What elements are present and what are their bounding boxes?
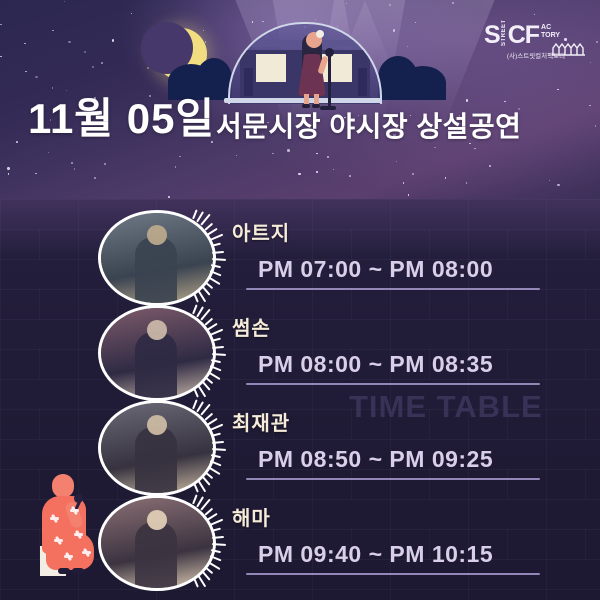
- star: [590, 62, 592, 64]
- star: [412, 173, 414, 175]
- star: [466, 99, 469, 102]
- performer-head: [147, 225, 167, 245]
- star: [94, 177, 96, 179]
- star: [84, 51, 87, 54]
- star: [101, 62, 103, 64]
- dress-flower-icon-6: [82, 548, 91, 557]
- seated-singer-head: [52, 474, 74, 498]
- star: [35, 173, 37, 175]
- stage-speaker-left: [244, 68, 253, 96]
- star: [147, 67, 149, 69]
- photo-tick: [204, 317, 213, 325]
- star: [595, 125, 597, 127]
- star: [168, 196, 170, 198]
- seated-singer-illustration: [28, 470, 106, 580]
- row-divider: [246, 383, 540, 385]
- photo-tick: [212, 250, 224, 253]
- logo-letters-cf: CF: [508, 23, 539, 48]
- performer-head: [147, 415, 167, 435]
- performer-silhouette: [135, 427, 177, 493]
- logo-word-street: STREET: [501, 24, 507, 46]
- logo-factory-skyline-icon: [552, 42, 586, 56]
- star: [16, 141, 18, 143]
- singer-shoe-left: [302, 104, 310, 108]
- photo-tick: [211, 528, 221, 532]
- photo-tick: [212, 448, 226, 451]
- star: [316, 171, 318, 173]
- photo-tick: [211, 454, 221, 458]
- star: [333, 169, 335, 171]
- star: [203, 30, 205, 32]
- photo-tick: [211, 243, 221, 247]
- photo-tick: [209, 365, 221, 371]
- stage-speaker-right: [358, 68, 367, 96]
- photo-tick: [212, 535, 224, 538]
- performer-name: 해마: [232, 509, 271, 529]
- star: [445, 177, 447, 179]
- star: [489, 165, 492, 168]
- singer-shoe-right: [312, 104, 320, 108]
- photo-tick: [211, 264, 221, 268]
- star: [35, 76, 38, 79]
- poster-header: S STREET CF AC TORY (사)스트릿컬처팩토리 11월 05일 …: [0, 0, 600, 199]
- star: [504, 101, 506, 103]
- photo-tick: [209, 270, 221, 276]
- performer-head: [147, 320, 167, 340]
- star: [298, 173, 301, 176]
- bush-right2: [400, 66, 446, 100]
- star: [349, 175, 351, 177]
- microphone-base: [320, 106, 336, 110]
- star: [68, 41, 71, 44]
- star: [466, 182, 468, 184]
- star: [396, 161, 398, 163]
- star: [557, 89, 559, 91]
- star: [25, 71, 27, 73]
- seated-microphone-icon: [74, 494, 83, 503]
- star: [272, 153, 274, 155]
- star: [589, 105, 591, 107]
- star: [48, 152, 50, 154]
- star: [327, 156, 329, 158]
- performer-name: 아트지: [232, 224, 290, 244]
- timetable-row[interactable]: 아트지PM 07:00 ~ PM 08:00: [0, 208, 600, 303]
- photo-tick: [211, 549, 221, 553]
- stage-screen-left: [256, 54, 286, 82]
- star: [52, 87, 54, 89]
- photo-tick: [207, 228, 218, 236]
- star: [534, 14, 536, 16]
- star: [92, 66, 95, 69]
- star: [104, 163, 106, 165]
- performer-silhouette: [135, 237, 177, 303]
- star: [74, 168, 76, 170]
- performer-name: 썸손: [232, 319, 271, 339]
- singer-illustration: [292, 28, 332, 106]
- star: [64, 1, 66, 3]
- photo-tick: [209, 424, 223, 431]
- performer-time: PM 09:40 ~ PM 10:15: [258, 543, 493, 566]
- dress-flower-icon-4: [74, 530, 83, 539]
- dress-flower-icon-2: [70, 506, 79, 515]
- star: [24, 43, 26, 45]
- star: [175, 166, 177, 168]
- photo-tick: [204, 412, 213, 420]
- star: [557, 184, 560, 187]
- photo-tick: [209, 555, 221, 561]
- star: [287, 149, 290, 152]
- photo-tick: [207, 323, 218, 331]
- poster-root: S STREET CF AC TORY (사)스트릿컬처팩토리 11월 05일 …: [0, 0, 600, 600]
- photo-tick: [207, 513, 218, 521]
- singer-hair-flower-icon: [316, 30, 324, 38]
- microphone-stand: [328, 52, 331, 108]
- dress-flower-icon-3: [54, 536, 63, 545]
- photo-tick: [209, 329, 223, 336]
- star: [66, 90, 68, 92]
- star: [8, 173, 10, 175]
- photo-tick: [211, 433, 221, 437]
- star: [316, 153, 318, 155]
- logo-letter-s: S: [484, 23, 500, 48]
- performer-name: 최재관: [232, 414, 290, 434]
- bush-left2: [196, 58, 232, 100]
- performer-time: PM 08:00 ~ PM 08:35: [258, 353, 493, 376]
- star: [236, 155, 238, 157]
- performer-time: PM 07:00 ~ PM 08:00: [258, 258, 493, 281]
- performer-silhouette: [135, 522, 177, 588]
- logo-word-ac: AC: [541, 24, 560, 32]
- logo-word-tory: TORY: [541, 32, 560, 40]
- photo-tick: [204, 507, 213, 515]
- photo-tick-decoration: [178, 214, 224, 296]
- photo-tick: [209, 519, 223, 526]
- star: [131, 13, 133, 15]
- photo-tick: [204, 222, 213, 230]
- seated-singer-foot-right: [72, 568, 84, 574]
- star: [469, 143, 471, 145]
- dress-flower-icon-5: [64, 552, 73, 561]
- timetable-row[interactable]: 썸손PM 08:00 ~ PM 08:35: [0, 303, 600, 398]
- photo-tick-decoration: [178, 309, 224, 391]
- photo-tick-decoration: [178, 404, 224, 486]
- photo-tick: [212, 543, 226, 546]
- star: [434, 147, 436, 149]
- photo-tick: [209, 234, 223, 241]
- logo-word-actory: AC TORY: [541, 24, 560, 40]
- photo-tick-decoration: [178, 499, 224, 581]
- seated-singer-foot-left: [58, 568, 70, 574]
- star: [408, 194, 410, 196]
- row-divider: [246, 573, 540, 575]
- photo-tick: [209, 460, 221, 466]
- performer-time: PM 08:50 ~ PM 09:25: [258, 448, 493, 471]
- photo-tick: [211, 338, 221, 342]
- performer-head: [147, 510, 167, 530]
- star: [403, 182, 405, 184]
- row-divider: [246, 288, 540, 290]
- photo-tick: [212, 440, 224, 443]
- star: [0, 24, 2, 26]
- performer-silhouette: [135, 332, 177, 398]
- star: [474, 148, 476, 150]
- row-divider: [246, 478, 540, 480]
- page-subtitle: 서문시장 야시장 상설공연: [216, 113, 521, 141]
- photo-tick: [207, 418, 218, 426]
- star: [179, 156, 181, 158]
- star: [549, 180, 551, 182]
- page-title-date: 11월 05일: [28, 98, 215, 140]
- scf-logo[interactable]: S STREET CF AC TORY (사)스트릿컬처팩토리: [484, 22, 588, 70]
- photo-tick: [211, 359, 221, 363]
- photo-tick: [212, 258, 226, 261]
- star: [71, 162, 73, 164]
- star: [112, 39, 115, 42]
- photo-tick: [212, 345, 224, 348]
- star: [7, 167, 10, 170]
- photo-tick: [212, 353, 226, 356]
- dress-flower-icon-1: [50, 514, 59, 523]
- star: [0, 56, 2, 58]
- star: [52, 30, 54, 32]
- star: [596, 41, 598, 43]
